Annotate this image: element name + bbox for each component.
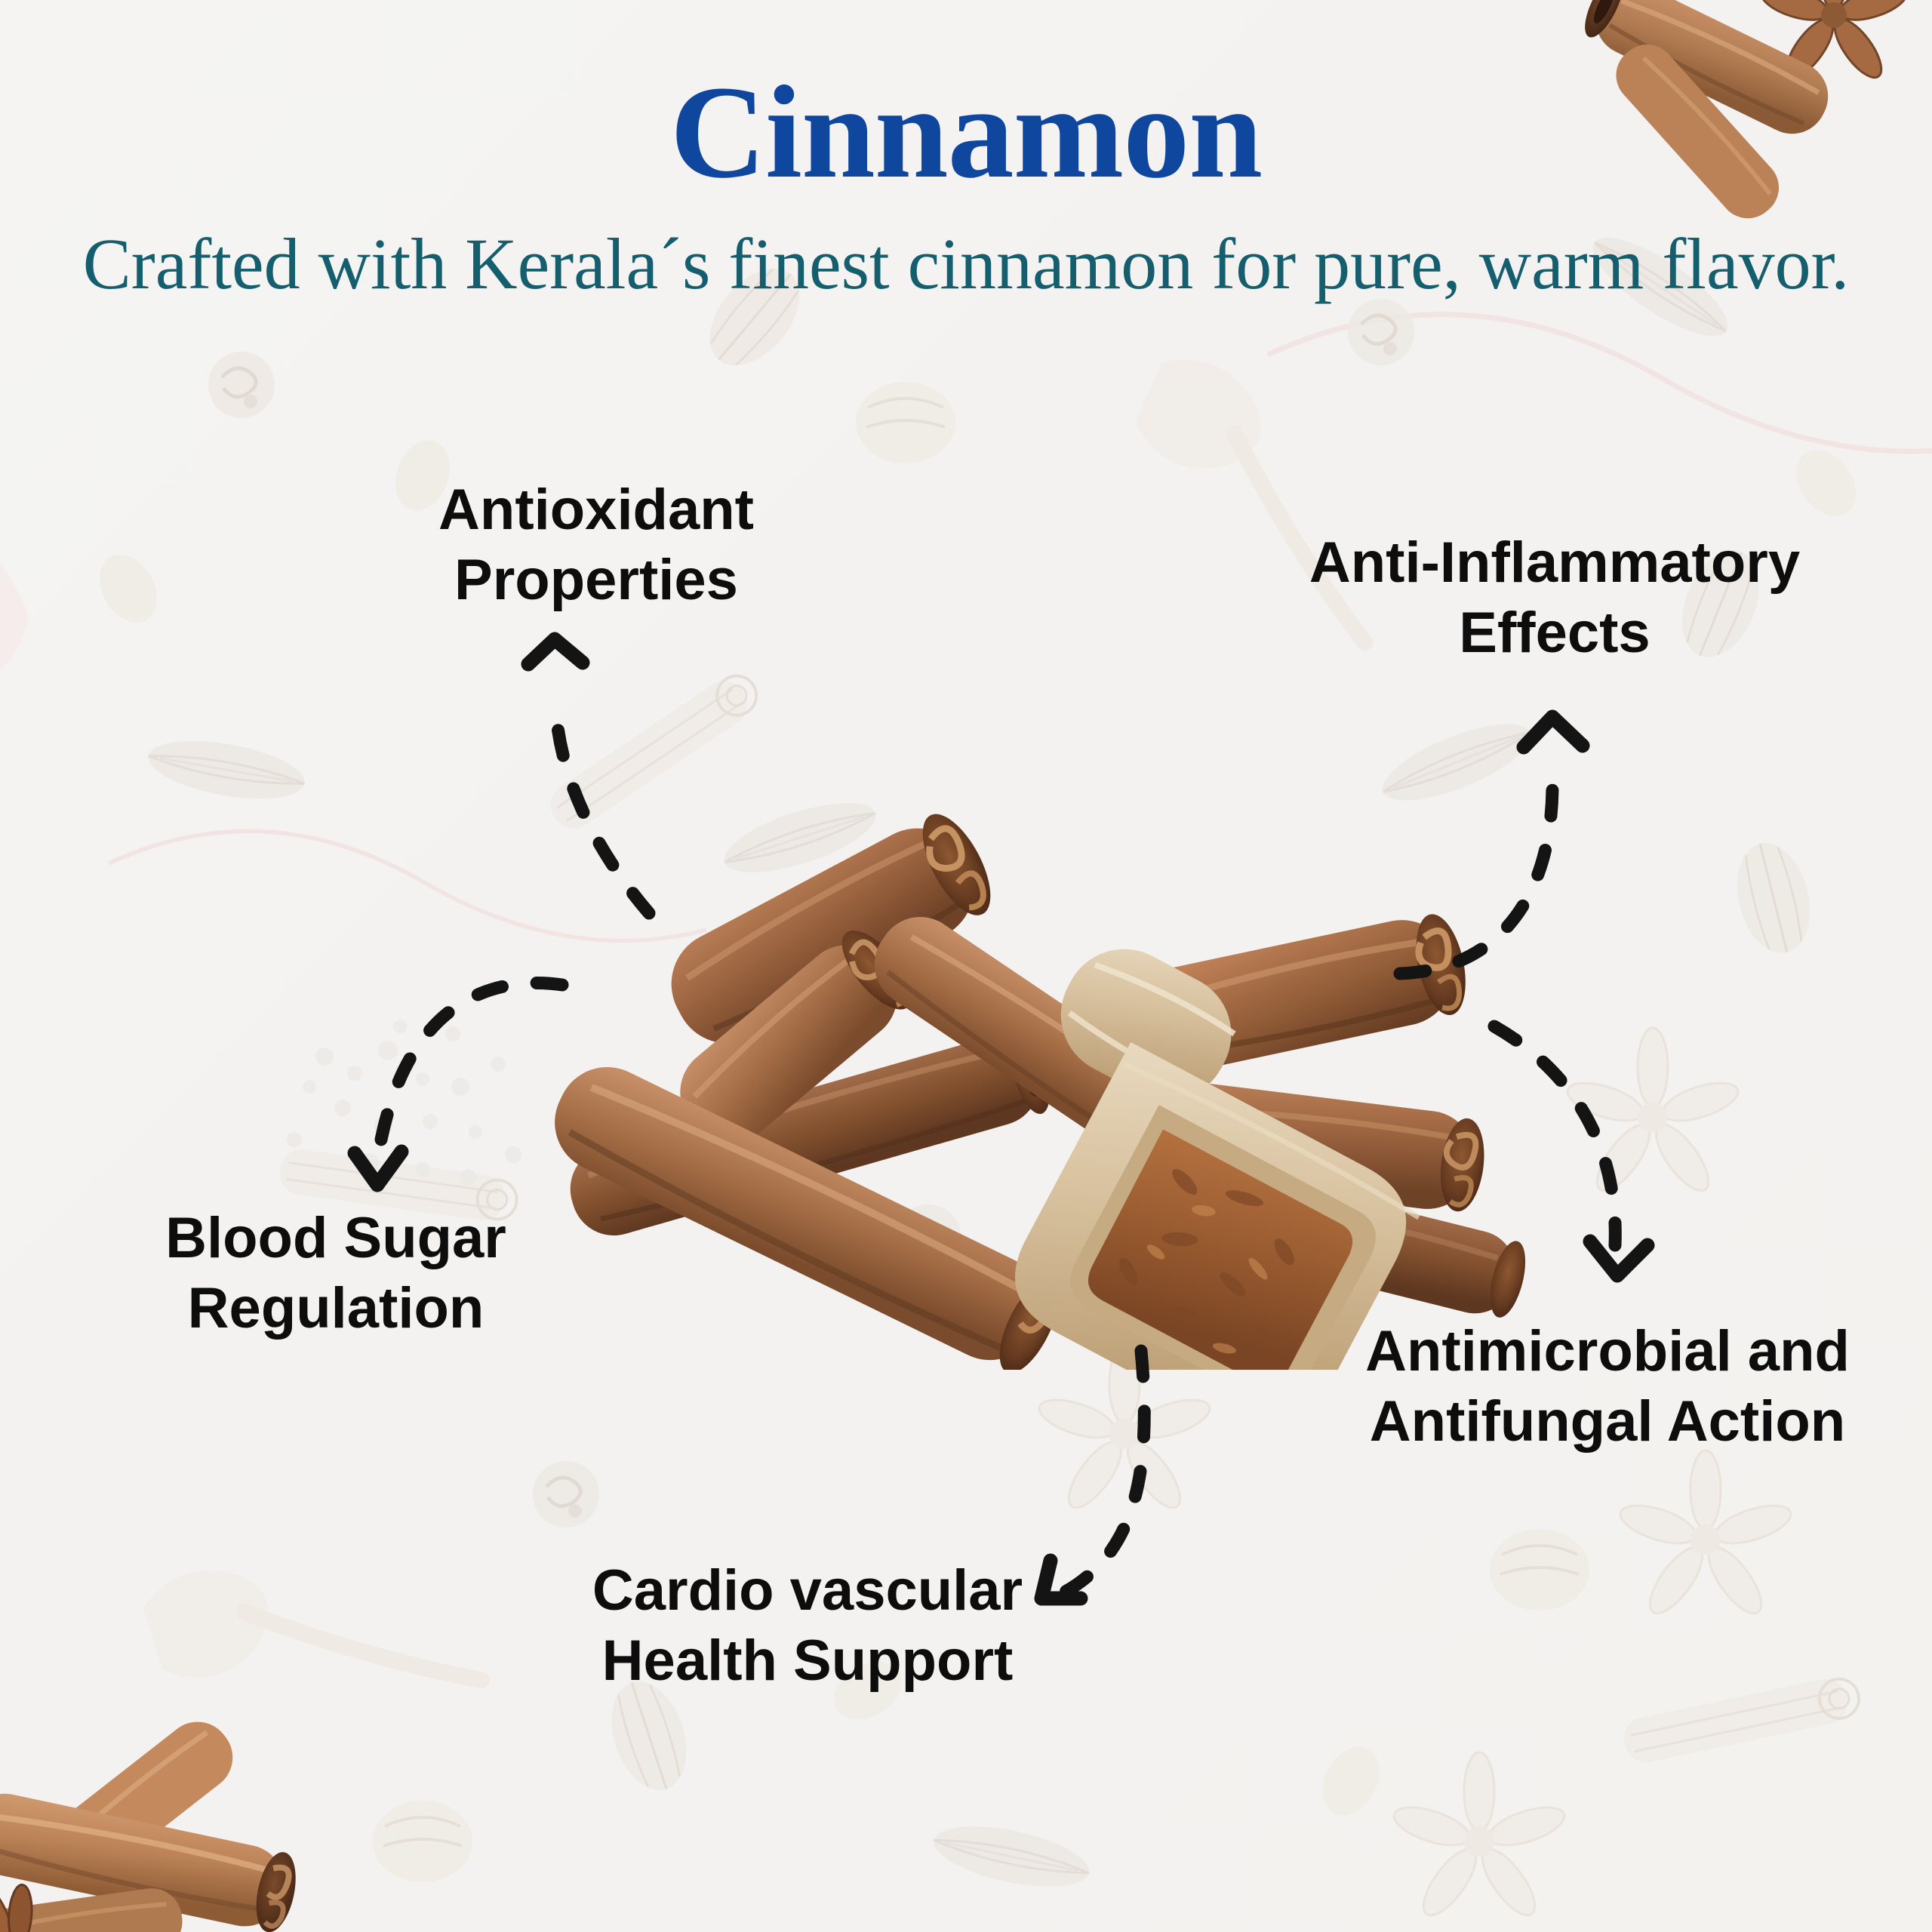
corner-decoration-bottom-left <box>0 1690 400 1932</box>
poster-header: Cinnamon Crafted with Kerala´s finest ci… <box>0 0 1932 303</box>
arrow-anti-inflammatory <box>1400 717 1583 974</box>
benefit-label-cardio-vascular: Cardio vascular Health Support <box>574 1556 1041 1696</box>
arrow-cardio <box>1041 1351 1144 1598</box>
cinnamon-infographic-poster: Cinnamon Crafted with Kerala´s finest ci… <box>0 0 1932 1932</box>
benefit-label-antioxidant: Antioxidant Properties <box>423 475 770 615</box>
benefit-label-antimicrobial: Antimicrobial and Antifungal Action <box>1336 1317 1879 1457</box>
arrow-antioxidant <box>528 639 649 913</box>
benefit-label-anti-inflammatory: Anti-Inflammatory Effects <box>1275 528 1834 668</box>
arrow-blood-sugar <box>355 983 562 1185</box>
arrow-antimicrobial <box>1494 1026 1647 1275</box>
wooden-scoop <box>922 928 1469 1370</box>
page-title: Cinnamon <box>0 0 1932 199</box>
cinnamon-sticks-photo <box>555 811 1611 1370</box>
benefit-label-blood-sugar: Blood Sugar Regulation <box>147 1204 525 1343</box>
page-subtitle: Crafted with Kerala´s finest cinnamon fo… <box>0 199 1932 303</box>
